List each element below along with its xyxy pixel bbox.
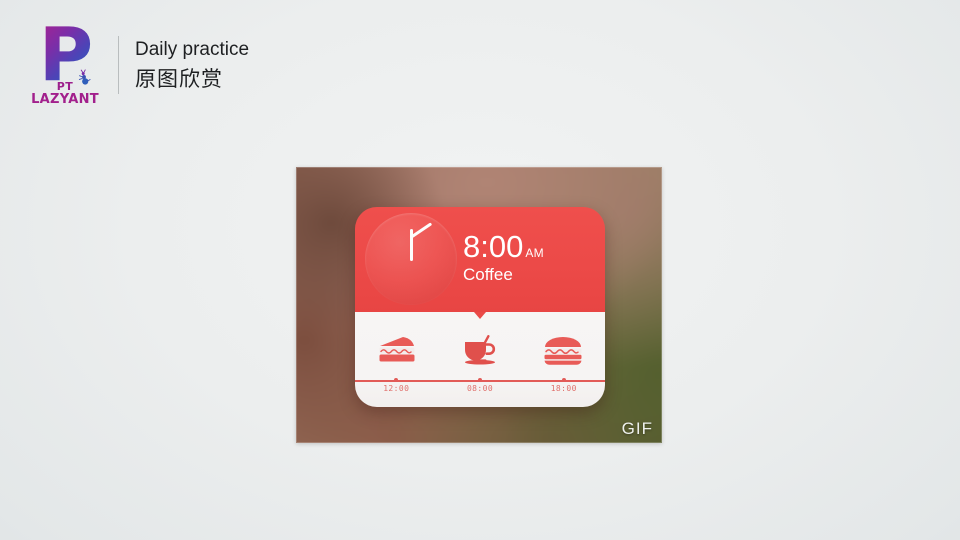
widget-top-panel: 8:00 AM Coffee bbox=[355, 207, 605, 312]
logo-brand-text: LAZYANT bbox=[26, 92, 104, 107]
alarm-time-label: Coffee bbox=[463, 265, 583, 285]
timeline-dot bbox=[478, 378, 482, 382]
lazyant-logo: P PT LAZYANT bbox=[26, 25, 104, 105]
timeline-label: 12:00 bbox=[383, 384, 409, 393]
timeline-label: 18:00 bbox=[551, 384, 577, 393]
alarm-time-meridiem: AM bbox=[525, 246, 544, 260]
burger-icon bbox=[543, 334, 583, 366]
selected-meal-pointer bbox=[474, 312, 486, 319]
clock-hour-hand bbox=[411, 222, 433, 238]
meal-item-cake[interactable] bbox=[355, 326, 438, 374]
alarm-time-row: 8:00 AM bbox=[463, 231, 583, 263]
slide-header: P PT LAZYANT Daily practice 原图欣赏 bbox=[26, 24, 249, 106]
coffee-cup-icon bbox=[460, 333, 500, 367]
slide-canvas: P PT LAZYANT Daily practice 原图欣赏 bbox=[0, 0, 960, 540]
cake-slice-icon bbox=[376, 334, 418, 366]
alarm-widget[interactable]: 8:00 AM Coffee bbox=[355, 207, 605, 407]
page-title-en: Daily practice bbox=[135, 36, 249, 64]
page-title-cn: 原图欣赏 bbox=[135, 64, 249, 94]
timeline-dot bbox=[394, 378, 398, 382]
meal-item-coffee[interactable] bbox=[438, 326, 521, 374]
ant-icon bbox=[78, 69, 91, 85]
gif-badge: GIF bbox=[622, 419, 653, 439]
analog-clock-icon bbox=[365, 213, 457, 305]
meal-item-burger[interactable] bbox=[522, 326, 605, 374]
preview-image-card[interactable]: 8:00 AM Coffee bbox=[296, 167, 662, 443]
header-divider bbox=[118, 36, 119, 94]
alarm-time-block: 8:00 AM Coffee bbox=[463, 231, 583, 285]
alarm-time-value: 8:00 bbox=[463, 231, 523, 263]
meal-icon-row bbox=[355, 326, 605, 374]
timeline-dot bbox=[562, 378, 566, 382]
meal-timeline[interactable]: 12:00 08:00 18:00 bbox=[355, 380, 605, 407]
timeline-label: 08:00 bbox=[467, 384, 493, 393]
header-title-group: Daily practice 原图欣赏 bbox=[135, 34, 249, 96]
widget-bottom-panel: 12:00 08:00 18:00 bbox=[355, 312, 605, 407]
